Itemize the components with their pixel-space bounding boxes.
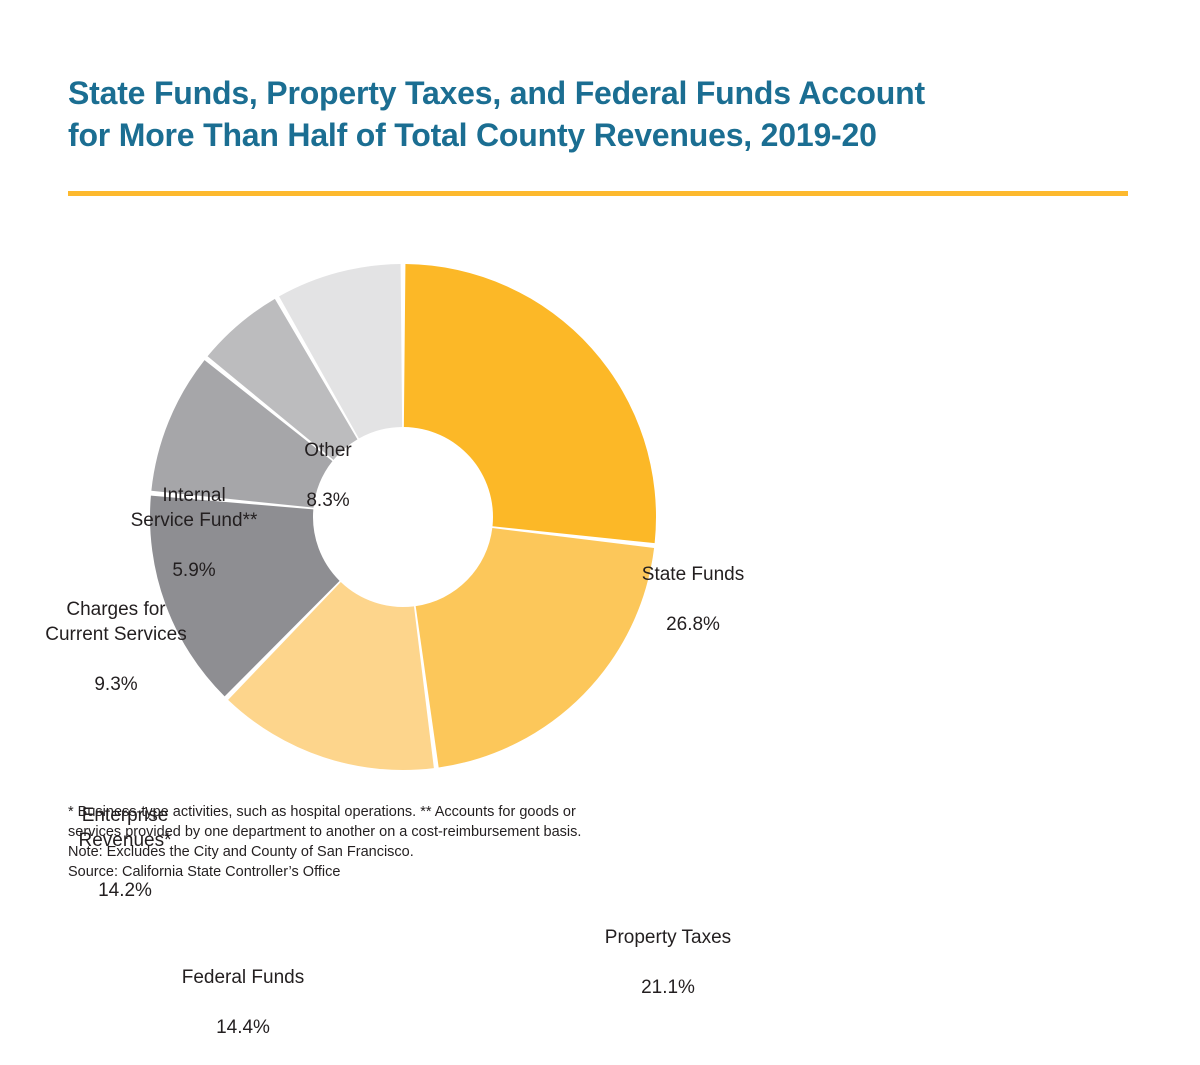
slice-label-federal-funds-value: 14.4%	[148, 1015, 338, 1040]
title-block: State Funds, Property Taxes, and Federal…	[68, 72, 1132, 156]
footnotes-block: * Business-type activities, such as hosp…	[68, 802, 768, 882]
footnote-source: Source: California State Controller’s Of…	[68, 862, 768, 882]
slice-label-charges-for-current-services-value: 9.3%	[26, 672, 206, 697]
footnote-definitions-line-2: services provided by one department to a…	[68, 822, 768, 842]
title-divider-rule	[68, 191, 1128, 196]
slice-label-state-funds-value: 26.8%	[608, 612, 778, 637]
slice-label-other-value: 8.3%	[258, 488, 398, 513]
donut-chart: State Funds 26.8% Property Taxes 21.1% F…	[0, 200, 1200, 800]
footnote-definitions-line-1: * Business-type activities, such as hosp…	[68, 802, 768, 822]
donut-slice[interactable]	[404, 264, 656, 543]
chart-page: State Funds, Property Taxes, and Federal…	[0, 0, 1200, 900]
slice-label-federal-funds-name: Federal Funds	[148, 965, 338, 990]
footnote-note: Note: Excludes the City and County of Sa…	[68, 842, 768, 862]
slice-label-property-taxes-name: Property Taxes	[578, 925, 758, 950]
slice-label-internal-service-fund: Internal Service Fund** 5.9%	[104, 458, 284, 608]
slice-label-federal-funds: Federal Funds 14.4%	[148, 940, 338, 1065]
slice-label-state-funds: State Funds 26.8%	[608, 537, 778, 662]
slice-label-internal-service-fund-value: 5.9%	[104, 558, 284, 583]
page-title: State Funds, Property Taxes, and Federal…	[68, 72, 1132, 156]
slice-label-state-funds-name: State Funds	[608, 562, 778, 587]
slice-label-internal-service-fund-name: Internal Service Fund**	[104, 483, 284, 533]
slice-label-other: Other 8.3%	[258, 413, 398, 538]
slice-label-property-taxes-value: 21.1%	[578, 975, 758, 1000]
slice-label-other-name: Other	[258, 438, 398, 463]
slice-label-property-taxes: Property Taxes 21.1%	[578, 900, 758, 1025]
